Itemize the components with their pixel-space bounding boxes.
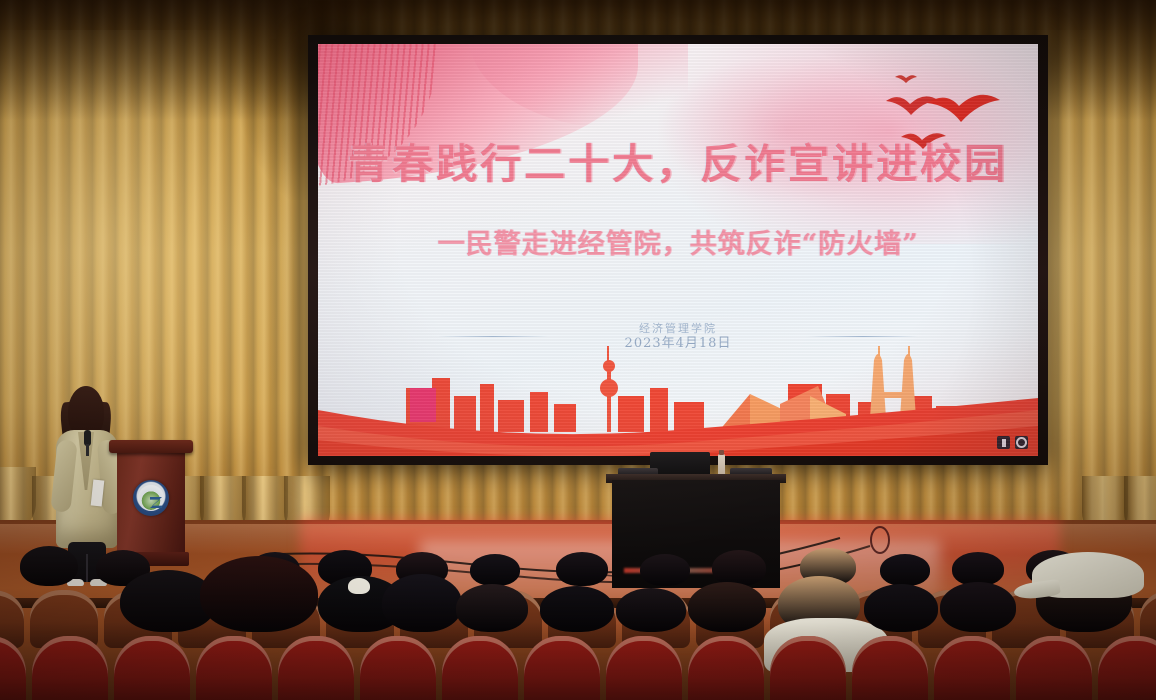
theater-seat — [934, 636, 1010, 700]
audience-head — [20, 546, 78, 586]
theater-seat — [360, 636, 436, 700]
theater-seat — [0, 636, 26, 700]
theater-seat — [524, 636, 600, 700]
theater-seat — [32, 636, 108, 700]
university-crest-icon — [133, 480, 169, 516]
audience-area — [0, 528, 1156, 700]
led-screen: 青春践行二十大，反诈宣讲进校园 一民警走进经管院，共筑反诈“防火墙” 经济管理学… — [318, 44, 1038, 456]
power-icon — [1015, 436, 1028, 449]
slide-subtitle: 一民警走进经管院，共筑反诈“防火墙” — [318, 222, 1038, 261]
theater-seat — [770, 636, 846, 700]
slide-title: 青春践行二十大，反诈宣讲进校园 — [318, 130, 1038, 190]
display-osd-indicators — [997, 436, 1028, 449]
microphone-handle — [86, 444, 89, 456]
audience-head — [880, 554, 930, 586]
theater-seat — [688, 636, 764, 700]
audience-head — [556, 552, 608, 586]
theater-seat — [852, 636, 928, 700]
curtain-fold — [0, 467, 36, 527]
crest-monogram — [150, 497, 162, 508]
theater-seat — [1016, 636, 1092, 700]
theater-seat — [442, 636, 518, 700]
theater-seat — [196, 636, 272, 700]
theater-seat — [278, 636, 354, 700]
podium-top — [109, 440, 193, 453]
crest-inner — [138, 485, 164, 511]
audience-head — [712, 550, 766, 586]
theater-seat — [114, 636, 190, 700]
seat-row-front — [0, 614, 1156, 700]
water-bottle-cap — [719, 450, 724, 455]
brightness-icon — [997, 436, 1010, 449]
white-cap — [348, 578, 370, 594]
audience-head — [952, 552, 1004, 586]
audience-head — [470, 554, 520, 586]
theater-seat — [1098, 636, 1156, 700]
auditorium-photo: 青春践行二十大，反诈宣讲进校园 一民警走进经管院，共筑反诈“防火墙” 经济管理学… — [0, 0, 1156, 700]
audience-head — [640, 554, 690, 586]
theater-seat — [606, 636, 682, 700]
city-skyline-graphic — [318, 326, 1038, 456]
